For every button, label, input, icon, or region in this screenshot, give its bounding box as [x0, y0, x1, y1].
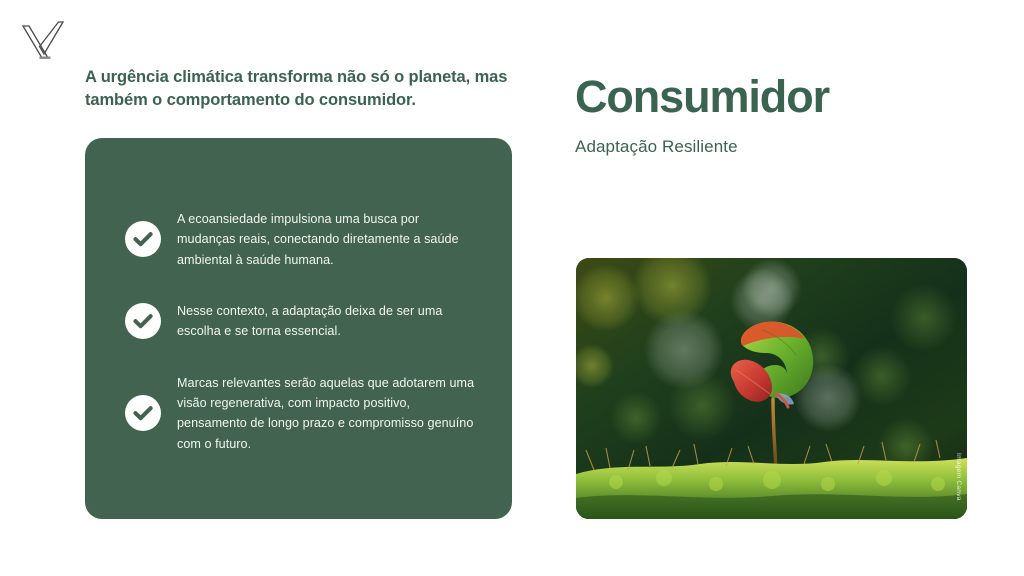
hero-photo: Imagem Canva — [576, 258, 967, 519]
check-circle-icon — [125, 303, 161, 339]
list-item-label: A ecoansiedade impulsiona uma busca por … — [177, 209, 477, 270]
highlights-card: A ecoansiedade impulsiona uma busca por … — [85, 138, 512, 519]
photo-credit: Imagem Canva — [955, 453, 962, 501]
page-title: Consumidor — [575, 74, 829, 119]
brand-logo[interactable] — [18, 16, 70, 64]
check-circle-icon — [125, 221, 161, 257]
page-subtitle: Adaptação Resiliente — [575, 137, 738, 157]
slide: A urgência climática transforma não só o… — [0, 0, 1024, 576]
lead-paragraph: A urgência climática transforma não só o… — [85, 66, 510, 113]
list-item-label: Marcas relevantes serão aquelas que adot… — [177, 373, 477, 455]
list-item-label: Nesse contexto, a adaptação deixa de ser… — [177, 301, 477, 342]
v-monogram-outline-icon — [18, 16, 70, 64]
check-circle-icon — [125, 395, 161, 431]
list-item: A ecoansiedade impulsiona uma busca por … — [125, 209, 484, 270]
list-item: Nesse contexto, a adaptação deixa de ser… — [125, 301, 484, 342]
list-item: Marcas relevantes serão aquelas que adot… — [125, 373, 484, 455]
seedling-photo-illustration — [576, 258, 967, 519]
